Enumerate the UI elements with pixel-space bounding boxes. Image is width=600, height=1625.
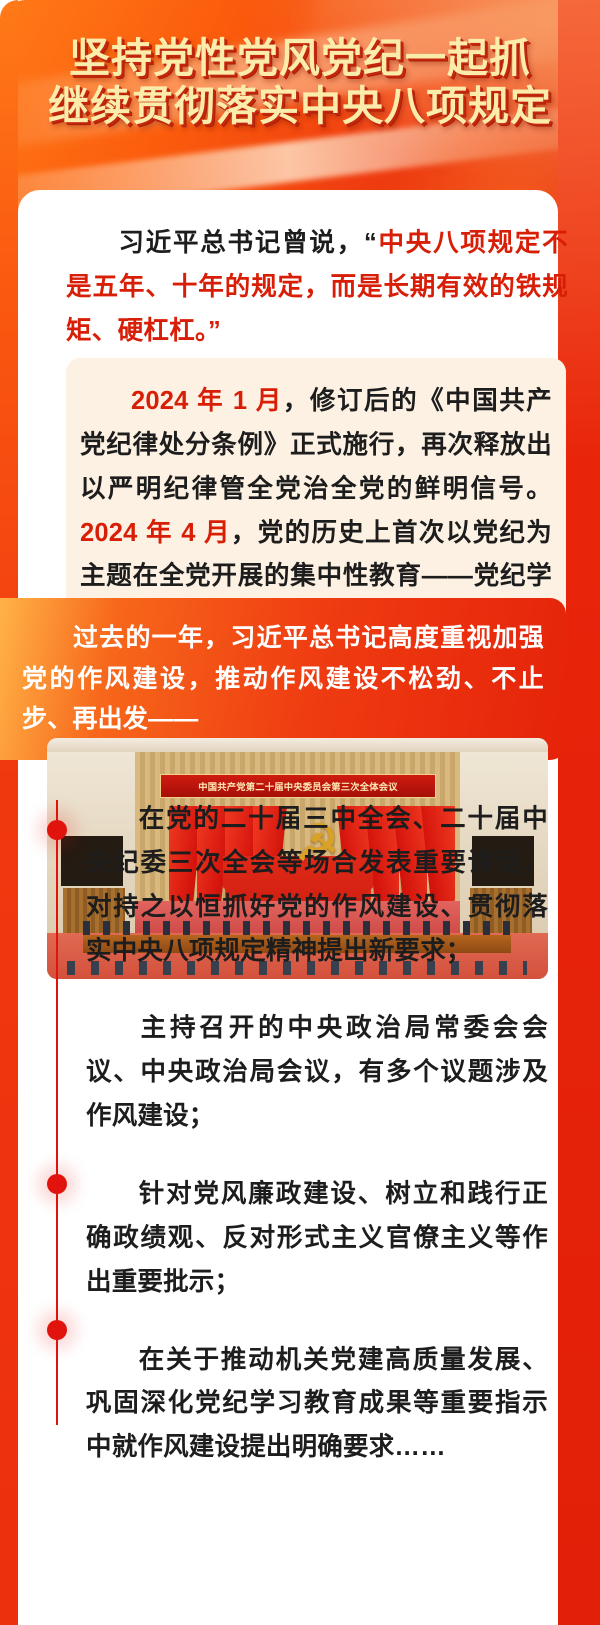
timeline-item-3-text: 针对党风廉政建设、树立和践行正确政绩观、反对形式主义官僚主义等作出重要批示； [86,1180,548,1296]
timeline-dot-1 [47,820,67,840]
timeline-item-2-text: 主持召开的中央政治局常委会会议、中央政治局会议，有多个议题涉及作风建设； [86,1014,548,1130]
page-title-line-2: 继续贯彻落实中央八项规定 [0,82,600,130]
timeline-item-1: 在党的二十届三中全会、二十届中央纪委三次全会等场合发表重要讲话，对持之以恒抓好党… [86,798,548,973]
timeline-item-4-text: 在关于推动机关党建高质量发展、巩固深化党纪学习教育成果等重要指示中就作风建设提出… [86,1346,548,1462]
beige-date-1: 2024 年 1 月 [131,387,283,415]
timeline-dot-2 [47,1174,67,1194]
photo-banner: 中国共产党第二十届中央委员会第三次全体会议 [160,774,436,798]
timeline-item-2: 主持召开的中央政治局常委会会议、中央政治局会议，有多个议题涉及作风建设； [86,1007,548,1139]
beige-date-2: 2024 年 4 月 [80,519,231,547]
red-banner-text: 过去的一年，习近平总书记高度重视加强党的作风建设，推动作风建设不松劲、不止步、再… [22,624,544,733]
timeline-item-1-text: 在党的二十届三中全会、二十届中央纪委三次全会等场合发表重要讲话，对持之以恒抓好党… [86,805,548,965]
page-title-line-1: 坚持党性党风党纪一起抓 [0,34,600,82]
timeline-item-3: 针对党风廉政建设、树立和践行正确政绩观、反对形式主义官僚主义等作出重要批示； [86,1173,548,1305]
quote-lead: 习近平总书记曾说，“ [117,229,377,257]
red-banner-paragraph: 过去的一年，习近平总书记高度重视加强党的作风建设，推动作风建设不松劲、不止步、再… [22,618,544,740]
page-title: 坚持党性党风党纪一起抓 继续贯彻落实中央八项规定 [0,34,600,131]
left-edge-strip [0,0,18,1625]
red-banner: 过去的一年，习近平总书记高度重视加强党的作风建设，推动作风建设不松劲、不止步、再… [0,598,566,760]
poster-root: 坚持党性党风党纪一起抓 继续贯彻落实中央八项规定 习近平总书记曾说，“中央八项规… [0,0,600,1625]
timeline-dot-3 [47,1320,67,1340]
quote-paragraph: 习近平总书记曾说，“中央八项规定不是五年、十年的规定，而是长期有效的铁规矩、硬杠… [66,222,568,354]
photo-banner-text: 中国共产党第二十届中央委员会第三次全体会议 [198,779,397,793]
timeline-item-4: 在关于推动机关党建高质量发展、巩固深化党纪学习教育成果等重要指示中就作风建设提出… [86,1339,548,1471]
timeline-items: 在党的二十届三中全会、二十届中央纪委三次全会等场合发表重要讲话，对持之以恒抓好党… [86,798,548,1470]
